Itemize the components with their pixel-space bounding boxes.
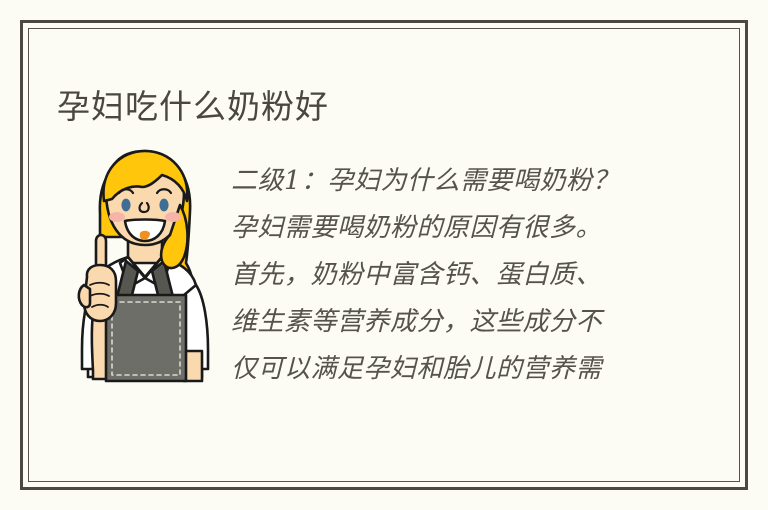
page-title: 孕妇吃什么奶粉好: [57, 86, 329, 128]
article-card: 孕妇吃什么奶粉好: [0, 0, 768, 510]
paragraph-line: 仅可以满足孕妇和胎儿的营养需: [231, 346, 655, 393]
paragraph-line: 维生素等营养成分，这些成分不: [231, 299, 655, 346]
paragraph-line: 首先，奶粉中富含钙、蛋白质、: [231, 252, 655, 299]
content-row: 二级1：孕妇为什么需要喝奶粉？ 孕妇需要喝奶粉的原因有很多。 首先，奶粉中富含钙…: [0, 140, 768, 390]
paragraph-line: 二级1：孕妇为什么需要喝奶粉？: [231, 158, 655, 205]
smiling-woman-pointing-up-icon: [62, 145, 222, 385]
paragraph-line: 孕妇需要喝奶粉的原因有很多。: [231, 205, 655, 252]
article-paragraph: 二级1：孕妇为什么需要喝奶粉？ 孕妇需要喝奶粉的原因有很多。 首先，奶粉中富含钙…: [231, 158, 655, 393]
